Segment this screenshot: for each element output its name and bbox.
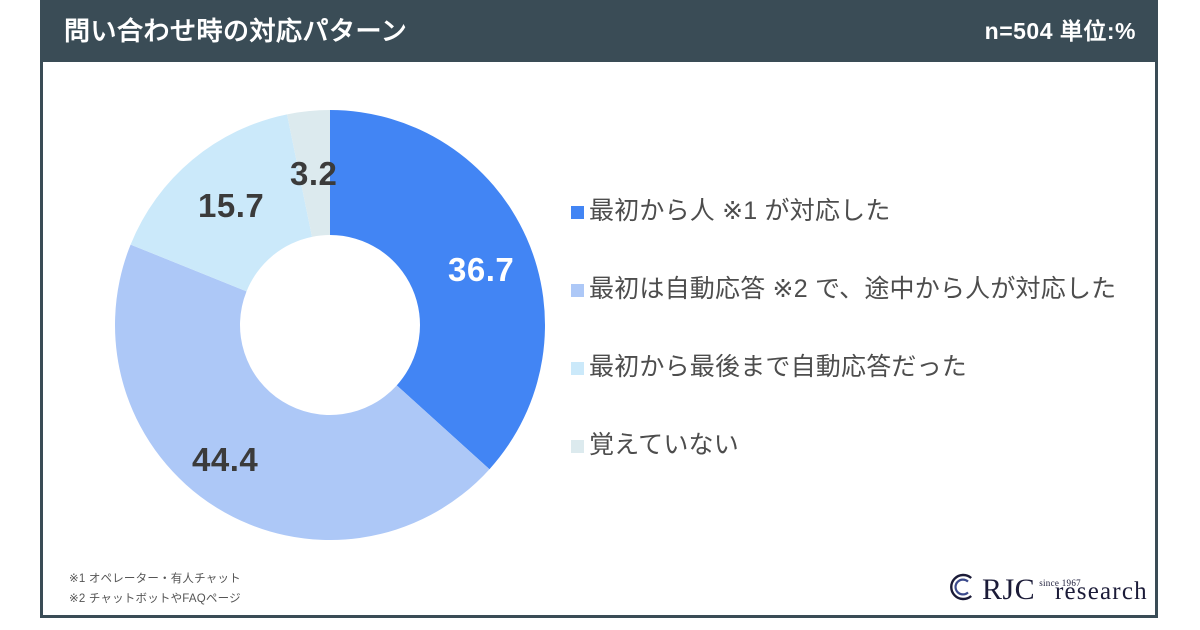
rjc-circle-mark-icon: [946, 572, 976, 607]
slice-value-label-0: 36.7: [448, 253, 514, 286]
sample-size-unit-label: n=504 単位:%: [985, 20, 1136, 43]
logo-since-text: since 1967: [1039, 579, 1081, 588]
legend-item-0[interactable]: 最初から人 ※1 が対応した: [571, 196, 1131, 274]
logo-rjc-text: RJC: [982, 575, 1035, 605]
infographic-slide: 問い合わせ時の対応パターン n=504 単位:% 36.7 44.4 15.7 …: [0, 0, 1200, 630]
legend-label-1: 最初は自動応答 ※2 で、途中から人が対応した: [589, 274, 1116, 304]
rjc-research-logo: RJC since 1967 research: [946, 572, 1148, 607]
legend-swatch-icon-3: [571, 440, 584, 453]
legend-label-2: 最初から最後まで自動応答だった: [589, 352, 967, 382]
page-title: 問い合わせ時の対応パターン: [64, 18, 407, 44]
legend-label-3: 覚えていない: [589, 430, 739, 460]
footnotes: ※1 オペレーター・有人チャット ※2 チャットボットやFAQページ: [69, 570, 241, 609]
slice-value-label-2: 15.7: [198, 189, 264, 222]
legend-swatch-icon-1: [571, 284, 584, 297]
legend-item-2[interactable]: 最初から最後まで自動応答だった: [571, 352, 1131, 430]
footnote-2: ※2 チャットボットやFAQページ: [69, 590, 241, 610]
chart-legend: 最初から人 ※1 が対応した 最初は自動応答 ※2 で、途中から人が対応した 最…: [571, 196, 1131, 508]
donut-chart: 36.7 44.4 15.7 3.2: [115, 110, 545, 540]
footnote-1: ※1 オペレーター・有人チャット: [69, 570, 241, 590]
legend-item-3[interactable]: 覚えていない: [571, 430, 1131, 508]
legend-item-1[interactable]: 最初は自動応答 ※2 で、途中から人が対応した: [571, 274, 1131, 352]
legend-swatch-icon-2: [571, 362, 584, 375]
chart-body: 36.7 44.4 15.7 3.2 最初から人 ※1 が対応した 最初は自動応…: [43, 62, 1155, 615]
slice-value-label-1: 44.4: [192, 443, 258, 476]
header-bar: 問い合わせ時の対応パターン n=504 単位:%: [40, 0, 1158, 62]
logo-wordmark: RJC since 1967 research: [982, 575, 1148, 605]
legend-label-0: 最初から人 ※1 が対応した: [589, 196, 891, 226]
slice-value-label-3: 3.2: [290, 157, 337, 190]
legend-swatch-icon-0: [571, 206, 584, 219]
